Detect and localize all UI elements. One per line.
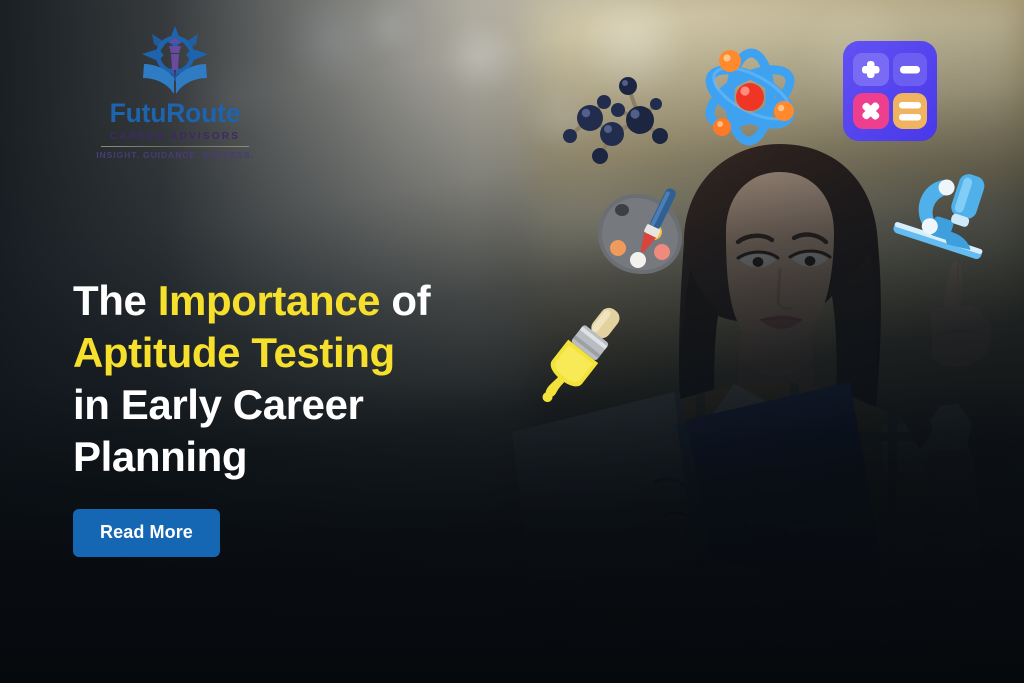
- headline-line-2: Aptitude Testing: [73, 327, 543, 379]
- headline-line-3: in Early Career: [73, 379, 543, 431]
- microscope-icon: [894, 155, 1002, 263]
- logo-subtitle: CAREER ADVISORS: [95, 131, 255, 142]
- calculator-icon: [833, 33, 951, 151]
- logo-divider: [101, 146, 249, 148]
- read-more-button[interactable]: Read More: [73, 509, 220, 557]
- page-title: The Importance of Aptitude Testing in Ea…: [73, 275, 543, 483]
- logo-wordmark: FutuRoute: [95, 100, 255, 128]
- headline-highlight: Importance: [158, 277, 380, 324]
- headline-part: The: [73, 277, 158, 324]
- headline-part: of: [380, 277, 430, 324]
- hero-copy: The Importance of Aptitude Testing in Ea…: [73, 275, 543, 557]
- paintbrush-icon: [531, 306, 637, 398]
- hero-banner: FutuRoute CAREER ADVISORS INSIGHT. GUIDA…: [0, 0, 1024, 683]
- atom-icon: [694, 41, 806, 153]
- palette-icon: [592, 188, 688, 280]
- headline-line-4: Planning: [73, 431, 543, 483]
- compass-book-graduation-pen-icon: [138, 24, 212, 96]
- molecule-icon: [556, 58, 676, 168]
- brand-logo[interactable]: FutuRoute CAREER ADVISORS INSIGHT. GUIDA…: [95, 24, 255, 160]
- logo-tagline: INSIGHT. GUIDANCE. SUCCESS.: [95, 150, 255, 160]
- headline-line-1: The Importance of: [73, 275, 543, 327]
